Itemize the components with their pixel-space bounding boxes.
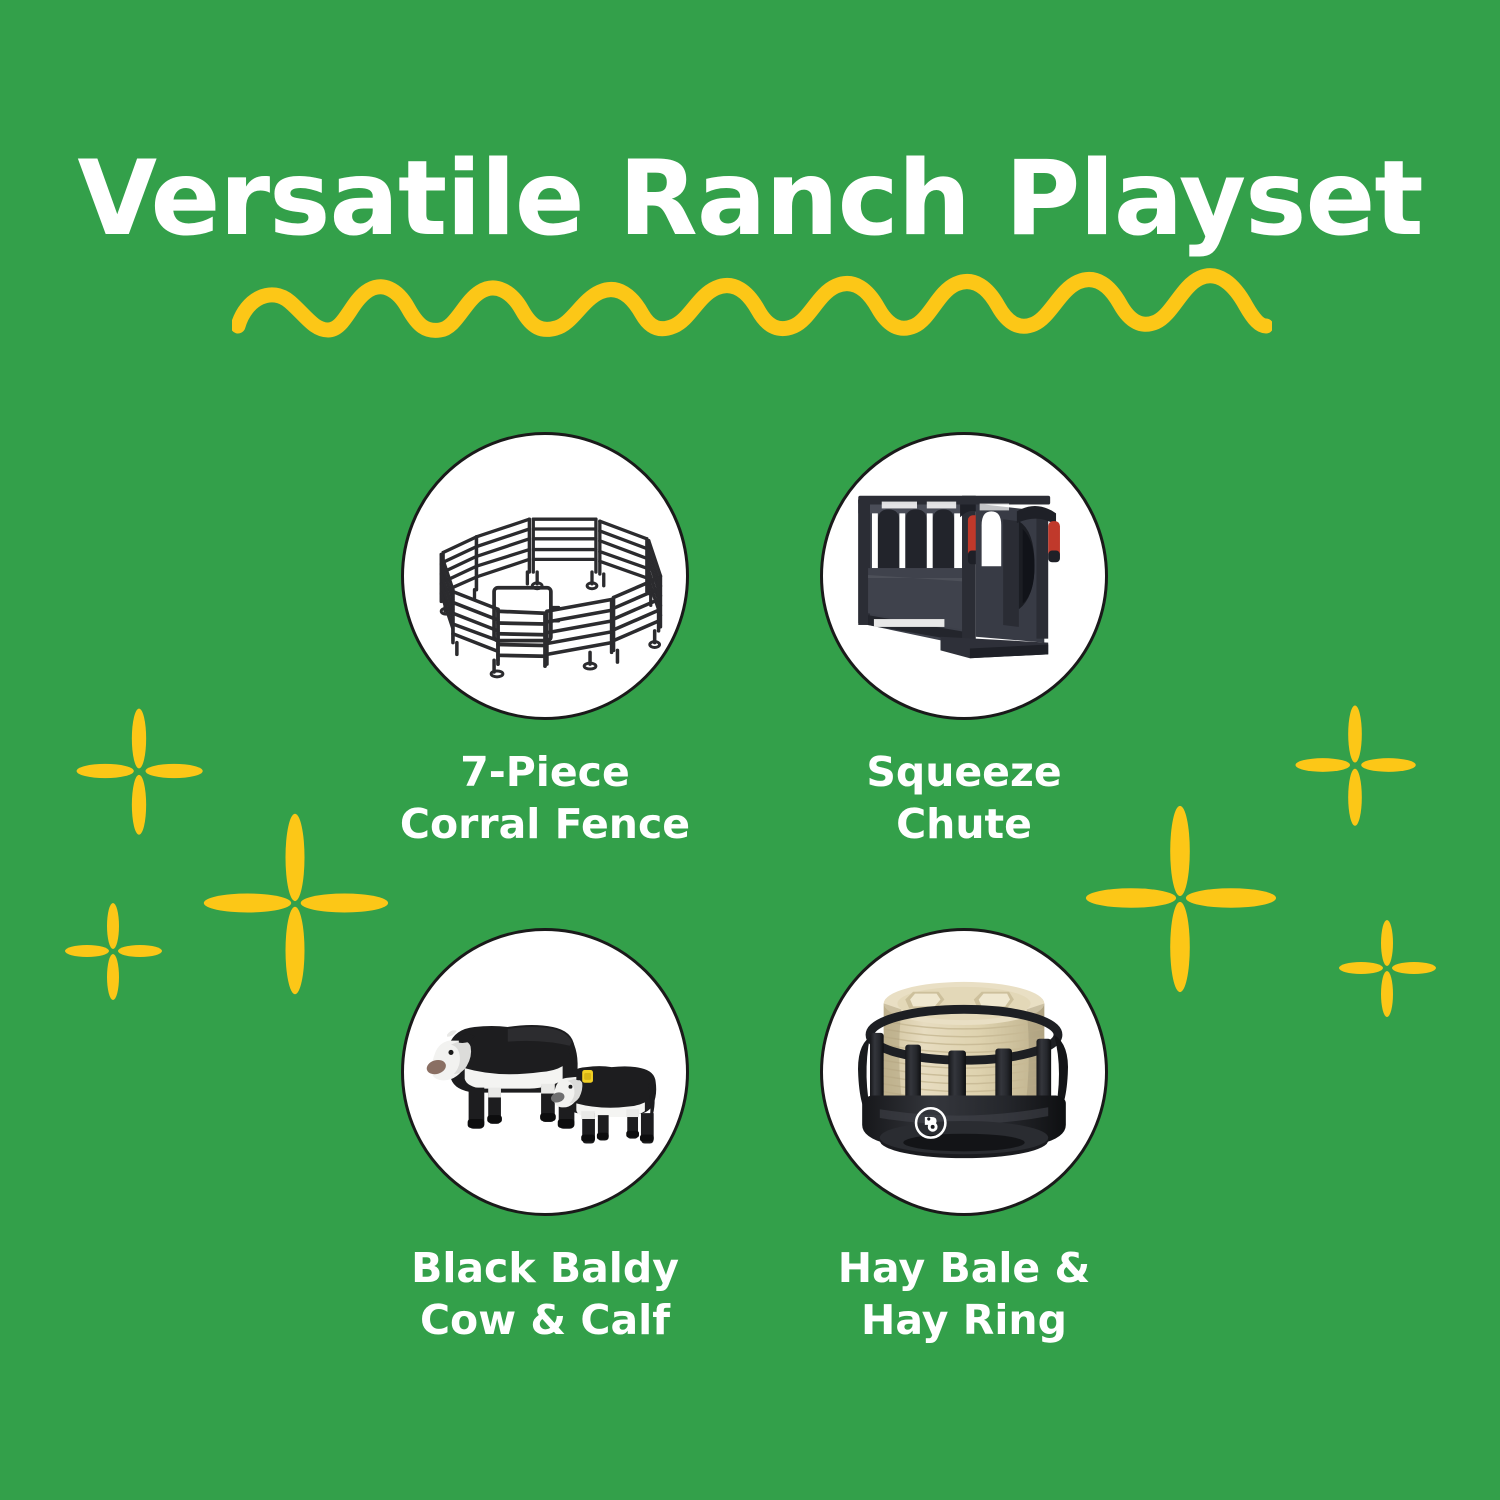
corral-fence-photo [404, 435, 686, 717]
product-image-circle [401, 928, 689, 1216]
infographic-canvas: Versatile Ranch Playset [0, 0, 1500, 1500]
product-card-cow-and-calf[interactable]: Black Baldy Cow & Calf [330, 928, 760, 1346]
product-card-corral-fence[interactable]: 7-Piece Corral Fence [330, 432, 760, 850]
product-label: Black Baldy Cow & Calf [330, 1242, 760, 1346]
product-image-circle [820, 928, 1108, 1216]
product-label: Hay Bale & Hay Ring [749, 1242, 1179, 1346]
product-label: Squeeze Chute [749, 746, 1179, 850]
black-baldy-cow-and-calf-photo [404, 931, 686, 1213]
product-grid: 7-Piece Corral Fence [0, 0, 1500, 1500]
product-card-squeeze-chute[interactable]: Squeeze Chute [749, 432, 1179, 850]
product-image-circle [820, 432, 1108, 720]
hay-bale-and-hay-ring-photo [823, 931, 1105, 1213]
squeeze-chute-photo [823, 435, 1105, 717]
product-label: 7-Piece Corral Fence [330, 746, 760, 850]
product-card-hay-bale-and-ring[interactable]: Hay Bale & Hay Ring [749, 928, 1179, 1346]
product-image-circle [401, 432, 689, 720]
